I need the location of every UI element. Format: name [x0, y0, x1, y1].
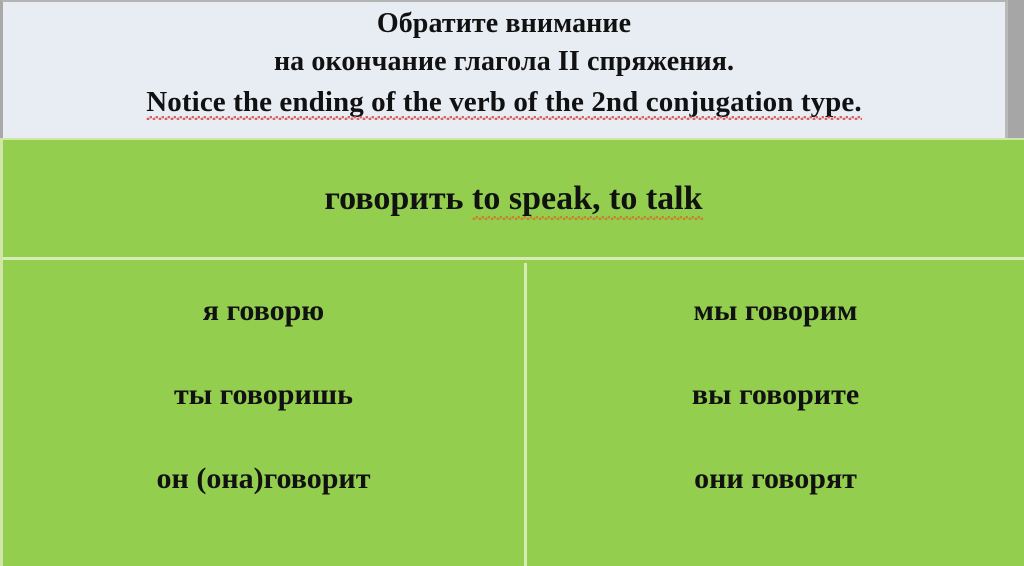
notice-line-russian-1: Обратите внимание	[377, 10, 631, 38]
conjugation-cell: вы говорите	[527, 353, 1024, 437]
notice-panel-right-shadow	[1008, 0, 1024, 138]
conjugation-columns: я говорю ты говоришь он (она)говорит мы …	[3, 263, 1024, 566]
verb-translation: to speak, to talk	[472, 180, 702, 218]
conjugation-cell: ты говоришь	[3, 353, 524, 437]
notice-english-text: Notice the ending of the verb of the 2nd…	[146, 88, 861, 117]
conjugation-cell: я говорю	[3, 269, 524, 353]
conjugation-column-singular: я говорю ты говоришь он (она)говорит	[3, 263, 527, 566]
conjugation-table: говорить to speak, to talk я говорю ты г…	[0, 138, 1024, 566]
notice-line-russian-2: на окончание глагола II спряжения.	[274, 48, 734, 76]
conjugation-cell: они говорят	[527, 437, 1024, 521]
conjugation-cell: он (она)говорит	[3, 437, 524, 521]
conjugation-table-header: говорить to speak, to talk	[3, 140, 1024, 260]
verb-heading: говорить to speak, to talk	[324, 180, 702, 218]
verb-infinitive: говорить	[324, 180, 463, 217]
notice-panel: Обратите внимание на окончание глагола I…	[0, 0, 1008, 138]
notice-line-english: Notice the ending of the verb of the 2nd…	[146, 88, 861, 117]
slide-canvas: Обратите внимание на окончание глагола I…	[0, 0, 1024, 566]
conjugation-column-plural: мы говорим вы говорите они говорят	[527, 263, 1024, 566]
conjugation-cell: мы говорим	[527, 269, 1024, 353]
